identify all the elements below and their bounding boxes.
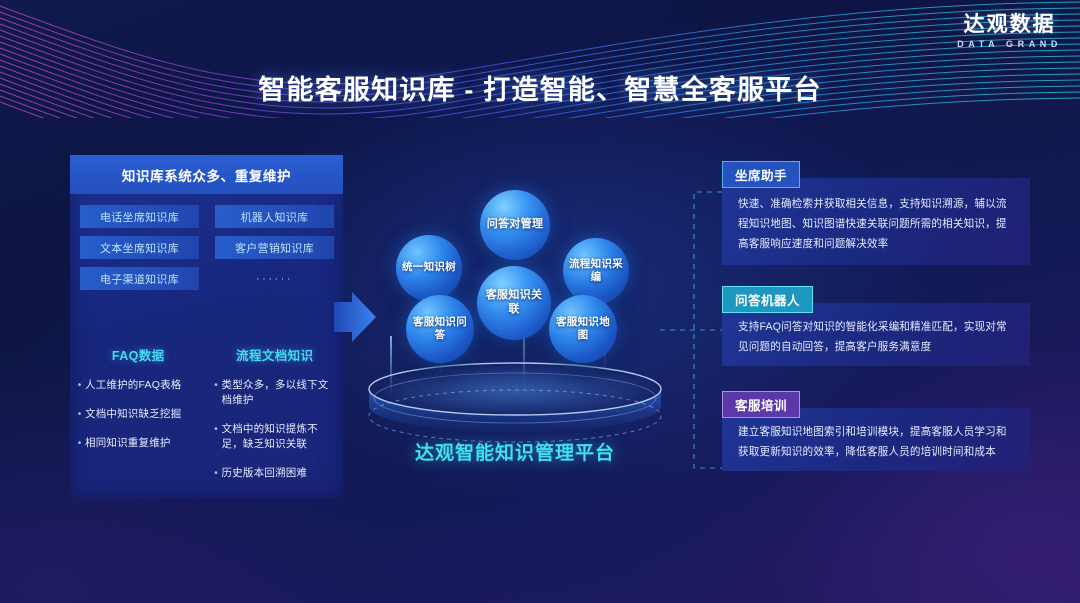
sphere-node[interactable]: 客服知识问答 xyxy=(406,295,474,363)
bullet-text: 类型众多，多以线下文档维护 xyxy=(222,378,340,408)
sphere-label: 客服知识关联 xyxy=(477,289,551,316)
card-badge: 问答机器人 xyxy=(722,286,813,313)
column-heading: 流程文档知识 xyxy=(211,345,340,364)
chip-item[interactable]: 机器人知识库 xyxy=(215,205,334,228)
bullet-text: 相同知识重复维护 xyxy=(85,436,171,451)
bullet-text: 文档中的知识提炼不足，缺乏知识关联 xyxy=(222,422,340,452)
bullet-dot-icon: • xyxy=(74,436,85,451)
bullet-dot-icon: • xyxy=(211,466,222,481)
chip-item[interactable]: 客户营销知识库 xyxy=(215,236,334,259)
card-badge: 坐席助手 xyxy=(722,161,800,188)
knowledge-platform-visual: 问答对管理 统一知识树 流程知识采编 客服知识关联 客服知识问答 客服知识地图 xyxy=(360,178,670,478)
sphere-label: 统一知识树 xyxy=(396,261,462,274)
sphere-node[interactable]: 客服知识关联 xyxy=(477,266,551,340)
chip-item[interactable]: 文本坐席知识库 xyxy=(80,236,199,259)
sphere-node[interactable]: 统一知识树 xyxy=(396,235,462,301)
brand-logo: 达观数据 DATA GRAND xyxy=(957,14,1062,49)
bullet-item: • 文档中的知识提炼不足，缺乏知识关联 xyxy=(211,422,340,452)
bullet-item: • 相同知识重复维护 xyxy=(74,436,203,451)
bullet-item: • 人工维护的FAQ表格 xyxy=(74,378,203,393)
bullet-dot-icon: • xyxy=(211,422,222,452)
problem-columns: FAQ数据 • 人工维护的FAQ表格 • 文档中知识缺乏挖掘 • 相同知识重复维… xyxy=(70,345,343,495)
sphere-stem xyxy=(390,336,392,394)
sphere-label: 流程知识采编 xyxy=(563,258,629,284)
feature-card-qa-robot[interactable]: 问答机器人 支持FAQ问答对知识的智能化采编和精准匹配，实现对常见问题的自动回答… xyxy=(722,303,1030,366)
bullet-item: • 类型众多，多以线下文档维护 xyxy=(211,378,340,408)
platform-podium xyxy=(368,361,662,447)
bullet-text: 历史版本回溯困难 xyxy=(222,466,308,481)
sphere-node[interactable]: 客服知识地图 xyxy=(549,295,617,363)
card-badge: 客服培训 xyxy=(722,391,800,418)
brand-name-cn: 达观数据 xyxy=(957,14,1062,36)
chip-item-ellipsis: ······ xyxy=(215,267,334,290)
slide-canvas: 达观数据 DATA GRAND 智能客服知识库 - 打造智能、智慧全客服平台 知… xyxy=(0,0,1080,603)
feature-card-seat-assistant[interactable]: 坐席助手 快速、准确检索并获取相关信息，支持知识溯源，辅以流程知识地图、知识图谱… xyxy=(722,178,1030,265)
sphere-node[interactable]: 问答对管理 xyxy=(480,190,550,260)
feature-card-service-training[interactable]: 客服培训 建立客服知识地图索引和培训模块，提高客服人员学习和获取更新知识的效率，… xyxy=(722,408,1030,471)
problem-column-faq: FAQ数据 • 人工维护的FAQ表格 • 文档中知识缺乏挖掘 • 相同知识重复维… xyxy=(70,345,207,495)
sphere-label: 客服知识地图 xyxy=(549,316,617,342)
sphere-label: 问答对管理 xyxy=(481,218,550,232)
card-body-text: 快速、准确检索并获取相关信息，支持知识溯源，辅以流程知识地图、知识图谱快速关联问… xyxy=(722,178,1030,254)
left-panel-header: 知识库系统众多、重复维护 xyxy=(70,155,343,194)
problem-column-process-doc: 流程文档知识 • 类型众多，多以线下文档维护 • 文档中的知识提炼不足，缺乏知识… xyxy=(207,345,344,495)
platform-title: 达观智能知识管理平台 xyxy=(360,438,670,465)
bullet-text: 人工维护的FAQ表格 xyxy=(85,378,182,393)
sphere-node[interactable]: 流程知识采编 xyxy=(563,238,629,304)
bullet-dot-icon: • xyxy=(74,407,85,422)
page-title: 智能客服知识库 - 打造智能、智慧全客服平台 xyxy=(0,68,1080,107)
column-heading: FAQ数据 xyxy=(74,345,203,364)
bullet-dot-icon: • xyxy=(211,378,222,408)
knowledge-base-chip-list: 电话坐席知识库 机器人知识库 文本坐席知识库 客户营销知识库 电子渠道知识库 ·… xyxy=(80,205,334,290)
bullet-dot-icon: • xyxy=(74,378,85,393)
bullet-item: • 历史版本回溯困难 xyxy=(211,466,340,481)
sphere-label: 客服知识问答 xyxy=(406,316,474,342)
left-problem-panel: 知识库系统众多、重复维护 电话坐席知识库 机器人知识库 文本坐席知识库 客户营销… xyxy=(70,155,343,498)
brand-name-en: DATA GRAND xyxy=(957,39,1062,49)
chip-item[interactable]: 电子渠道知识库 xyxy=(80,267,199,290)
bullet-item: • 文档中知识缺乏挖掘 xyxy=(74,407,203,422)
bullet-text: 文档中知识缺乏挖掘 xyxy=(85,407,181,422)
chip-item[interactable]: 电话坐席知识库 xyxy=(80,205,199,228)
